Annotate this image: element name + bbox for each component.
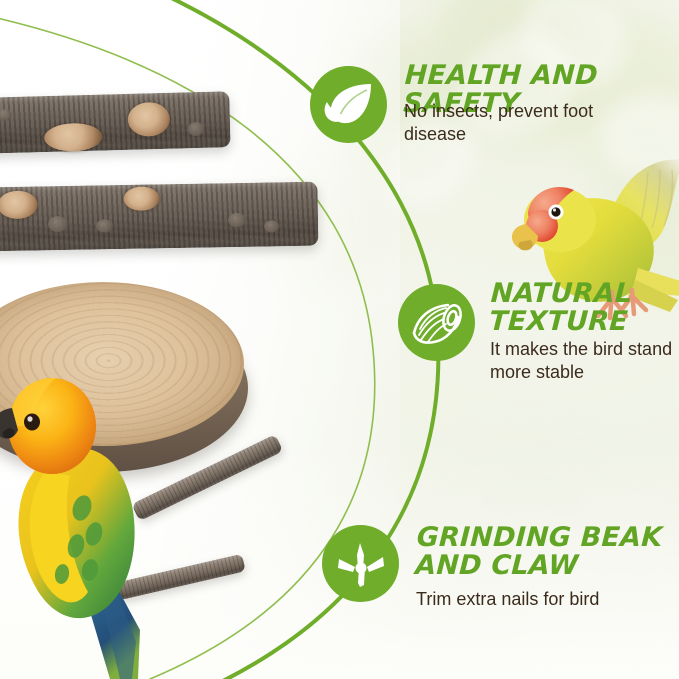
log-icon-glyph (408, 299, 466, 347)
bird-claw-icon (322, 525, 399, 602)
feature-title: NATURAL TEXTURE (489, 280, 642, 336)
feature-description: It makes the bird stand more stable (490, 338, 679, 385)
feature-description: No insects, prevent foot disease (404, 100, 618, 147)
leaf-icon (310, 66, 387, 143)
feature-description: Trim extra nails for bird (416, 588, 656, 611)
leaf-icon-glyph (323, 82, 375, 128)
product-branch-perch-second (0, 182, 319, 261)
product-infographic-poster: HEALTH AND SAFETY No insects, prevent fo… (0, 0, 679, 679)
log-icon (398, 284, 475, 361)
product-branch-perch-top (0, 91, 231, 161)
bird-claw-icon-glyph (333, 537, 389, 591)
bird-sun-conure (0, 330, 200, 679)
feature-title: GRINDING BEAK AND CLAW (415, 524, 674, 580)
